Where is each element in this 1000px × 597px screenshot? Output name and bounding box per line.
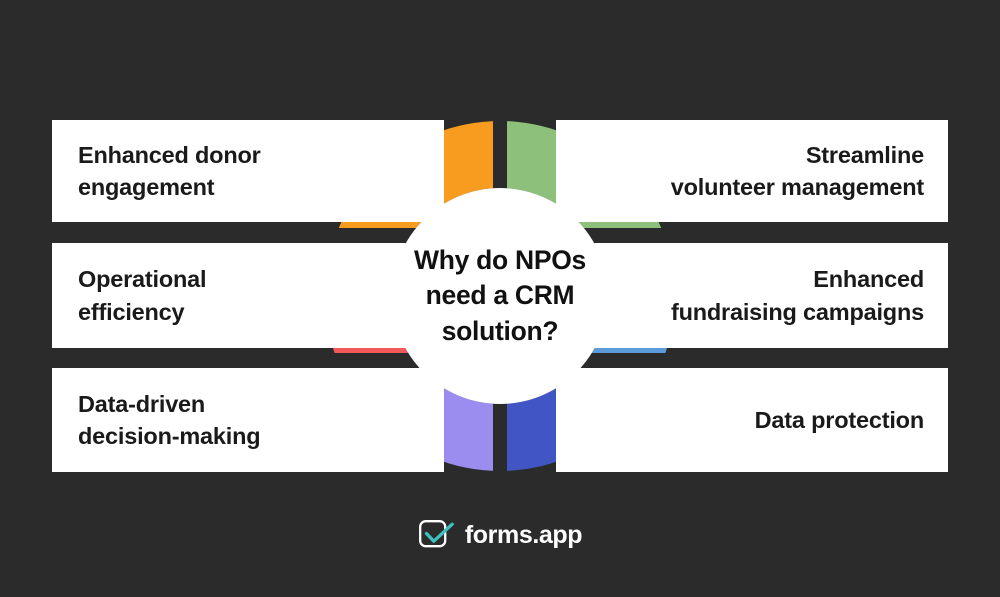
center-hub: Why do NPOs need a CRM solution?: [392, 188, 608, 404]
brand-logo[interactable]: forms.app: [0, 518, 1000, 552]
page-title: Why do NPOs need a CRM solution?: [406, 243, 594, 349]
panel-operational-efficiency[interactable]: Operational efficiency: [52, 243, 444, 348]
panel-enhanced-fundraising-campaigns[interactable]: Enhanced fundraising campaigns: [556, 243, 948, 348]
panel-label: Data protection: [755, 404, 924, 436]
panel-data-protection[interactable]: Data protection: [556, 368, 948, 472]
panel-enhanced-donor-engagement[interactable]: Enhanced donor engagement: [52, 120, 444, 222]
forms-app-checkmark-icon: [418, 518, 456, 552]
panel-label: Streamline volunteer management: [671, 139, 924, 204]
panel-data-driven-decision-making[interactable]: Data-driven decision-making: [52, 368, 444, 472]
panel-streamline-volunteer-management[interactable]: Streamline volunteer management: [556, 120, 948, 222]
brand-name: forms.app: [465, 523, 582, 548]
panel-label: Enhanced fundraising campaigns: [671, 263, 924, 328]
panel-label: Enhanced donor engagement: [78, 139, 261, 204]
infographic-canvas: Enhanced donor engagement Streamline vol…: [0, 0, 1000, 597]
panel-label: Data-driven decision-making: [78, 388, 260, 453]
panel-label: Operational efficiency: [78, 263, 206, 328]
